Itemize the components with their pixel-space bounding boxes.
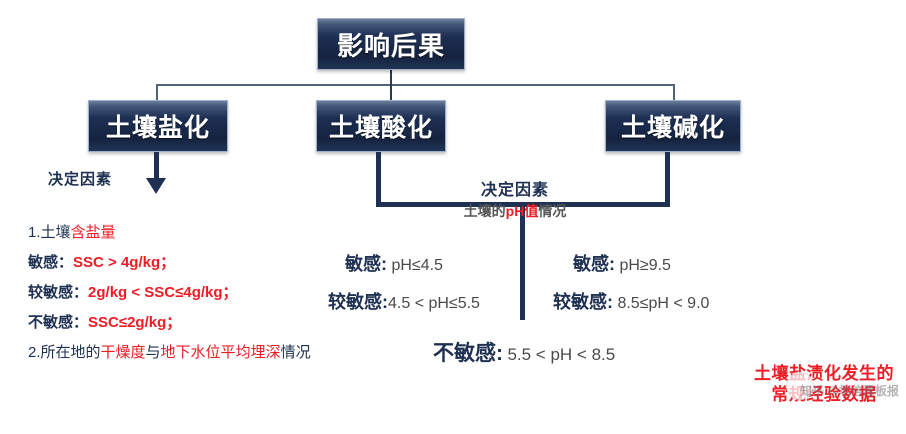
left-item-2-p1: 2.所在地的 bbox=[28, 344, 101, 361]
left-row-insensitive: 不敏感：SSC≤2g/kg； bbox=[28, 308, 313, 338]
left-item-2-p3: 情况 bbox=[281, 344, 311, 361]
left-row-sensitive: 敏感：SSC > 4g/kg； bbox=[28, 248, 313, 278]
left-row-sensitive-value: SSC > 4g/kg； bbox=[73, 254, 175, 271]
middle-ph-subtitle: 土壤的pH值情况 bbox=[410, 201, 620, 221]
middle-row-sensitive-key: 敏感: bbox=[345, 254, 387, 274]
right-row-moderate-key: 较敏感: bbox=[553, 292, 613, 312]
connector-root-stem bbox=[390, 70, 392, 85]
left-criteria-list: 1.土壤含盐量 敏感：SSC > 4g/kg； 较敏感：2g/kg < SSC≤… bbox=[28, 218, 313, 368]
middle-row-moderate: 较敏感:4.5 < pH≤5.5 bbox=[328, 288, 480, 314]
left-item-2: 2.所在地的干燥度与地下水位平均埋深情况 bbox=[28, 338, 313, 368]
right-row-sensitive-key: 敏感: bbox=[573, 254, 615, 274]
left-row-moderate-key: 较敏感： bbox=[28, 284, 88, 301]
left-row-insensitive-value: SSC≤2g/kg； bbox=[88, 314, 181, 331]
middle-row-insensitive-value: 5.5 < pH < 8.5 bbox=[507, 345, 615, 364]
ph-subtitle-suffix: 情况 bbox=[538, 203, 566, 219]
left-item-2-h3: 均埋深 bbox=[236, 344, 281, 361]
left-item-2-p2: 与 bbox=[146, 344, 161, 361]
node-root-impact[interactable]: 影响后果 bbox=[317, 18, 465, 70]
down-arrow-icon bbox=[146, 178, 166, 194]
left-row-moderate-value: 2g/kg < SSC≤4g/kg； bbox=[88, 284, 238, 301]
middle-row-sensitive: 敏感: pH≤4.5 bbox=[345, 250, 443, 276]
ph-subtitle-highlight: pH值 bbox=[506, 203, 539, 219]
bracket-right-stem bbox=[665, 152, 670, 207]
left-item-1-prefix: 1.土壤 bbox=[28, 224, 71, 241]
bracket-left-stem bbox=[376, 152, 381, 207]
right-row-sensitive: 敏感: pH≥9.5 bbox=[573, 250, 671, 276]
node-soil-salinization[interactable]: 土壤盐化 bbox=[88, 100, 228, 152]
left-row-insensitive-key: 不敏感： bbox=[28, 314, 88, 331]
ph-subtitle-prefix: 土壤的 bbox=[464, 203, 506, 219]
middle-row-moderate-value: 4.5 < pH≤5.5 bbox=[388, 295, 480, 312]
left-item-1-highlight: 含盐量 bbox=[71, 224, 116, 241]
right-row-moderate: 较敏感: 8.5≤pH < 9.0 bbox=[553, 288, 709, 314]
node-soil-alkalization[interactable]: 土壤碱化 bbox=[605, 100, 741, 152]
left-row-moderate: 较敏感：2g/kg < SSC≤4g/kg； bbox=[28, 278, 313, 308]
connector-horizontal-bar bbox=[157, 84, 674, 86]
left-item-2-h1: 干燥度 bbox=[101, 344, 146, 361]
left-determining-factor-label: 决定因素 bbox=[48, 168, 112, 189]
left-item-1: 1.土壤含盐量 bbox=[28, 218, 313, 248]
right-row-sensitive-value: pH≥9.5 bbox=[619, 257, 670, 274]
diagram-canvas: 影响后果 土壤盐化 土壤酸化 土壤碱化 决定因素 决定因素 土壤的pH值情况 1… bbox=[0, 0, 906, 434]
bracket-center-stem bbox=[520, 207, 525, 320]
middle-row-sensitive-value: pH≤4.5 bbox=[391, 257, 442, 274]
left-row-sensitive-key: 敏感： bbox=[28, 254, 73, 271]
middle-determining-factor-label: 决定因素 bbox=[410, 176, 620, 200]
connector-drop-right bbox=[673, 84, 675, 101]
left-item-2-h2: 地下水位平 bbox=[161, 344, 236, 361]
right-row-moderate-value: 8.5≤pH < 9.0 bbox=[617, 295, 709, 312]
middle-row-moderate-key: 较敏感: bbox=[328, 292, 388, 312]
middle-row-insensitive-key: 不敏感: bbox=[433, 342, 503, 365]
watermark-text: 知乎 @地信黑板报 bbox=[800, 382, 899, 399]
connector-drop-left bbox=[156, 84, 158, 101]
connector-drop-middle bbox=[390, 84, 392, 101]
signature-line-1: 土壤盐渍化发生的 bbox=[744, 363, 904, 384]
node-soil-acidification[interactable]: 土壤酸化 bbox=[316, 100, 446, 152]
middle-row-insensitive: 不敏感: 5.5 < pH < 8.5 bbox=[433, 337, 615, 367]
middle-determining-factor-block: 决定因素 土壤的pH值情况 bbox=[410, 176, 620, 221]
